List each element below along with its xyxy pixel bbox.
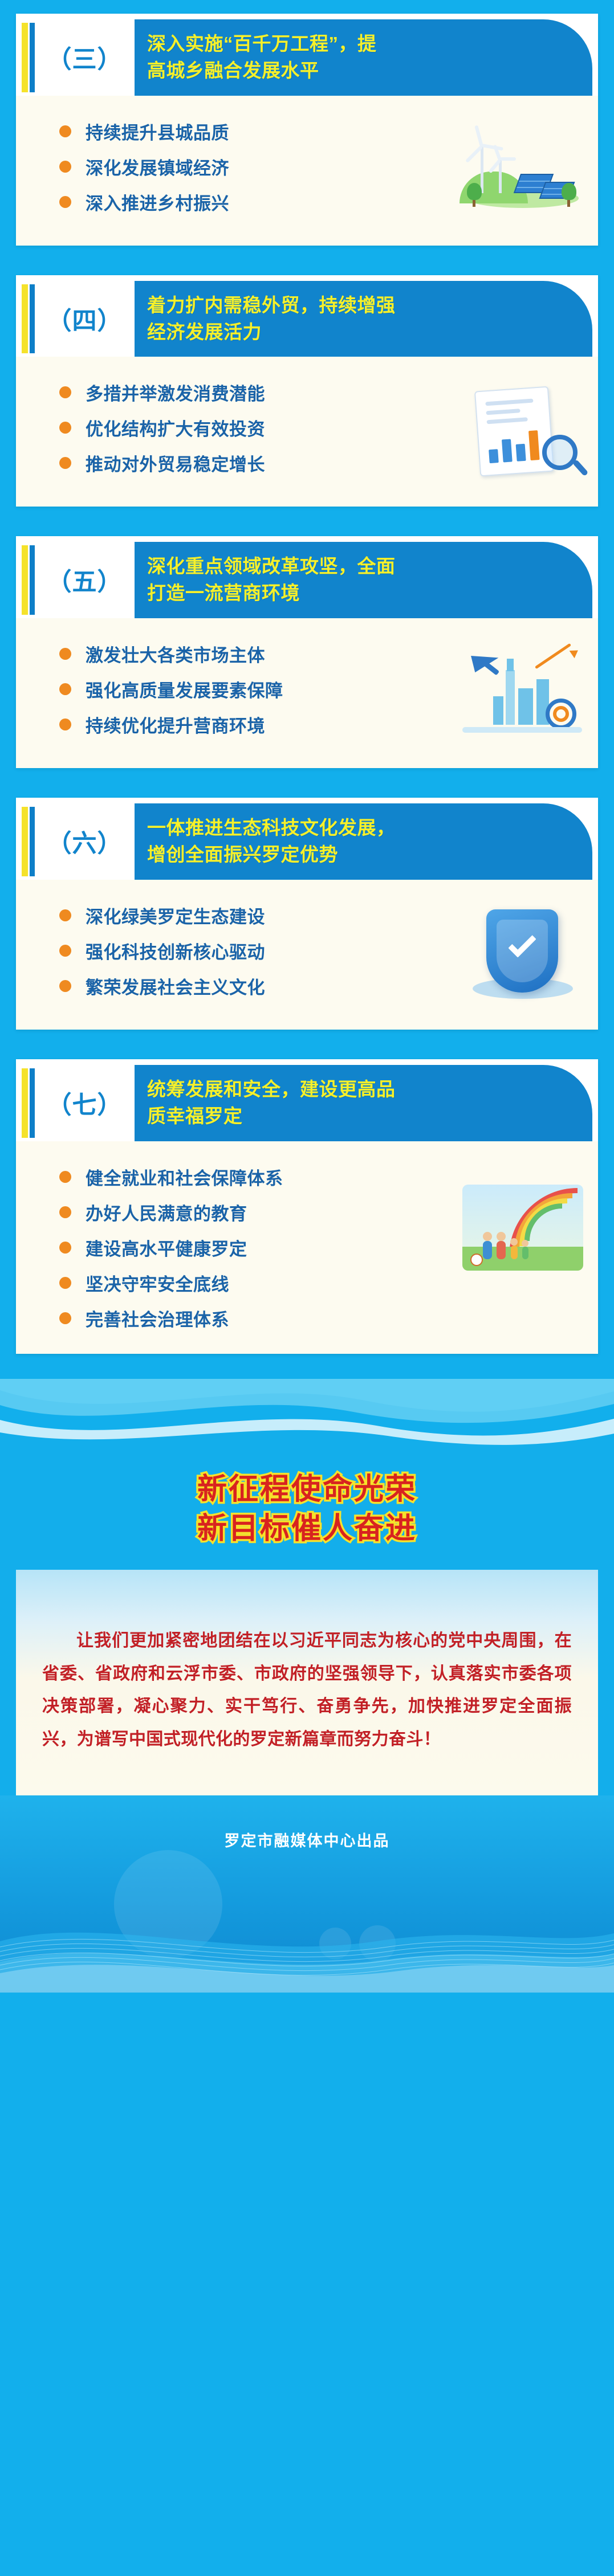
card-title-banner: 一体推进生态科技文化发展， 增创全面振兴罗定优势 [135,803,592,880]
bullet-label: 激发壮大各类市场主体 [86,641,265,667]
bullet-dot-icon [59,980,71,992]
list-item: 深化绿美罗定生态建设 [59,903,457,928]
bullet-label: 办好人民满意的教育 [86,1199,247,1225]
card-header: （四） 着力扩内需稳外贸，持续增强 经济发展活力 [16,275,598,357]
list-item: 办好人民满意的教育 [59,1199,457,1225]
bullet-dot-icon [59,1277,71,1289]
bullet-label: 多措并举激发消费潜能 [86,379,265,405]
accent-bar-blue [30,807,35,876]
bullet-label: 完善社会治理体系 [86,1305,229,1331]
section-card-5: （五） 深化重点领域改革攻坚，全面 打造一流营商环境 激发壮大各类市场主体 强化… [16,536,598,768]
footer: 罗定市融媒体中心出品 [0,1795,614,1993]
section-card-7: （七） 统筹发展和安全，建设更高品 质幸福罗定 健全就业和社会保障体系 办好人民… [16,1059,598,1354]
list-item: 持续优化提升营商环境 [59,712,457,737]
section-card-4: （四） 着力扩内需稳外贸，持续增强 经济发展活力 多措并举激发消费潜能 优化结构… [16,275,598,507]
statement-paragraph: 让我们更加紧密地团结在以习近平同志为核心的党中央周围，在省委、省政府和云浮市委、… [42,1624,572,1756]
bullet-label: 深入推进乡村振兴 [86,189,229,215]
slogan-region: 新征程使命光荣 新目标催人奋进 [0,1446,614,1570]
card-header: （五） 深化重点领域改革攻坚，全面 打造一流营商环境 [16,536,598,618]
statement-wrap: 让我们更加紧密地团结在以习近平同志为核心的党中央周围，在省委、省政府和云浮市委、… [0,1570,614,1795]
accent-bar-blue [30,545,35,615]
accent-bar-yellow [22,23,28,92]
accent-bars [22,284,35,354]
accent-bar-blue [30,284,35,354]
accent-bars [22,545,35,615]
bullet-dot-icon [59,1171,71,1183]
bullet-label: 繁荣发展社会主义文化 [86,973,265,999]
section-card-6: （六） 一体推进生态科技文化发展， 增创全面振兴罗定优势 深化绿美罗定生态建设 … [16,798,598,1030]
card-title-line-1: 一体推进生态科技文化发展， [147,815,396,842]
list-item: 完善社会治理体系 [59,1305,457,1331]
list-item: 建设高水平健康罗定 [59,1235,457,1260]
card-title-banner: 着力扩内需稳外贸，持续增强 经济发展活力 [135,281,592,357]
bullet-label: 优化结构扩大有效投资 [86,415,265,440]
card-title-line-2: 增创全面振兴罗定优势 [147,842,396,868]
footer-credit: 罗定市融媒体中心出品 [0,1828,614,1851]
bullet-label: 建设高水平健康罗定 [86,1235,247,1260]
list-item: 繁荣发展社会主义文化 [59,973,457,999]
card-title-banner: 深化重点领域改革攻坚，全面 打造一流营商环境 [135,542,592,618]
document-magnifier-icon [457,378,588,484]
card-title-line-1: 统筹发展和安全，建设更高品 [147,1076,396,1103]
card-title-banner: 统筹发展和安全，建设更高品 质幸福罗定 [135,1065,592,1141]
card-title-line-2: 打造一流营商环境 [147,580,396,607]
bullet-dot-icon [59,683,71,695]
card-number-badge: （五） [35,542,135,618]
card-body: 健全就业和社会保障体系 办好人民满意的教育 建设高水平健康罗定 坚决守牢安全底线… [16,1141,598,1354]
bullet-label: 坚决守牢安全底线 [86,1270,229,1296]
bullet-label: 健全就业和社会保障体系 [86,1164,283,1190]
footer-wave-art [0,1861,614,1993]
wind-solar-village-icon [457,117,588,223]
wave-divider [0,1379,614,1446]
bullet-dot-icon [59,1242,71,1254]
shield-check-icon [457,901,588,1007]
section-card-3: （三） 深入实施“百千万工程”，提 高城乡融合发展水平 持续提升县城品质 深化发… [16,14,598,246]
bullet-list: 健全就业和社会保障体系 办好人民满意的教育 建设高水平健康罗定 坚决守牢安全底线… [16,1161,457,1331]
city-plane-target-icon [457,640,588,745]
list-item: 健全就业和社会保障体系 [59,1164,457,1190]
family-rainbow-icon [457,1175,588,1281]
list-item: 激发壮大各类市场主体 [59,641,457,667]
card-title-line-1: 着力扩内需稳外贸，持续增强 [147,292,396,319]
cards-region: （三） 深入实施“百千万工程”，提 高城乡融合发展水平 持续提升县城品质 深化发… [0,0,614,1379]
accent-bar-yellow [22,545,28,615]
accent-bars [22,1068,35,1138]
accent-bar-yellow [22,1068,28,1138]
list-item: 深化发展镇域经济 [59,154,457,179]
bullet-list: 多措并举激发消费潜能 优化结构扩大有效投资 推动对外贸易稳定增长 [16,376,457,476]
accent-bar-blue [30,1068,35,1138]
list-item: 推动对外贸易稳定增长 [59,450,457,476]
bullet-dot-icon [59,196,71,208]
bullet-dot-icon [59,422,71,434]
accent-bars [22,807,35,876]
card-body: 持续提升县城品质 深化发展镇域经济 深入推进乡村振兴 [16,96,598,246]
card-number-badge: （七） [35,1065,135,1141]
bullet-label: 深化发展镇域经济 [86,154,229,179]
list-item: 持续提升县城品质 [59,119,457,144]
card-number-badge: （三） [35,19,135,96]
statement-panel: 让我们更加紧密地团结在以习近平同志为核心的党中央周围，在省委、省政府和云浮市委、… [16,1570,598,1795]
accent-bar-yellow [22,807,28,876]
list-item: 多措并举激发消费潜能 [59,379,457,405]
bullet-label: 持续优化提升营商环境 [86,712,265,737]
bullet-label: 深化绿美罗定生态建设 [86,903,265,928]
bullet-dot-icon [59,457,71,469]
list-item: 深入推进乡村振兴 [59,189,457,215]
list-item: 强化高质量发展要素保障 [59,676,457,702]
bullet-dot-icon [59,909,71,921]
bullet-dot-icon [59,1312,71,1324]
card-header: （三） 深入实施“百千万工程”，提 高城乡融合发展水平 [16,14,598,96]
list-item: 坚决守牢安全底线 [59,1270,457,1296]
list-item: 优化结构扩大有效投资 [59,415,457,440]
card-title-line-1: 深入实施“百千万工程”，提 [147,31,377,58]
card-number-badge: （四） [35,281,135,357]
bullet-label: 强化高质量发展要素保障 [86,676,283,702]
list-item: 强化科技创新核心驱动 [59,938,457,964]
bullet-list: 持续提升县城品质 深化发展镇域经济 深入推进乡村振兴 [16,115,457,215]
bullet-dot-icon [59,1206,71,1218]
card-header: （六） 一体推进生态科技文化发展， 增创全面振兴罗定优势 [16,798,598,880]
slogan-line-2: 新目标催人奋进 [0,1509,614,1549]
card-body: 深化绿美罗定生态建设 强化科技创新核心驱动 繁荣发展社会主义文化 [16,880,598,1030]
bullet-label: 强化科技创新核心驱动 [86,938,265,964]
accent-bar-yellow [22,284,28,354]
slogan-line-1: 新征程使命光荣 [0,1470,614,1510]
card-title-line-1: 深化重点领域改革攻坚，全面 [147,553,396,580]
card-title-line-2: 高城乡融合发展水平 [147,58,377,84]
card-body: 多措并举激发消费潜能 优化结构扩大有效投资 推动对外贸易稳定增长 [16,357,598,507]
bullet-dot-icon [59,125,71,137]
card-body: 激发壮大各类市场主体 强化高质量发展要素保障 持续优化提升营商环境 [16,618,598,768]
card-header: （七） 统筹发展和安全，建设更高品 质幸福罗定 [16,1059,598,1141]
bullet-list: 深化绿美罗定生态建设 强化科技创新核心驱动 繁荣发展社会主义文化 [16,899,457,999]
bullet-dot-icon [59,945,71,957]
card-title-banner: 深入实施“百千万工程”，提 高城乡融合发展水平 [135,19,592,96]
bullet-label: 持续提升县城品质 [86,119,229,144]
card-number-badge: （六） [35,803,135,880]
card-title-line-2: 经济发展活力 [147,319,396,346]
bullet-list: 激发壮大各类市场主体 强化高质量发展要素保障 持续优化提升营商环境 [16,638,457,737]
bullet-dot-icon [59,161,71,173]
accent-bar-blue [30,23,35,92]
card-title-line-2: 质幸福罗定 [147,1103,396,1130]
bullet-dot-icon [59,386,71,398]
accent-bars [22,23,35,92]
bullet-dot-icon [59,718,71,730]
bullet-label: 推动对外贸易稳定增长 [86,450,265,476]
bullet-dot-icon [59,648,71,660]
